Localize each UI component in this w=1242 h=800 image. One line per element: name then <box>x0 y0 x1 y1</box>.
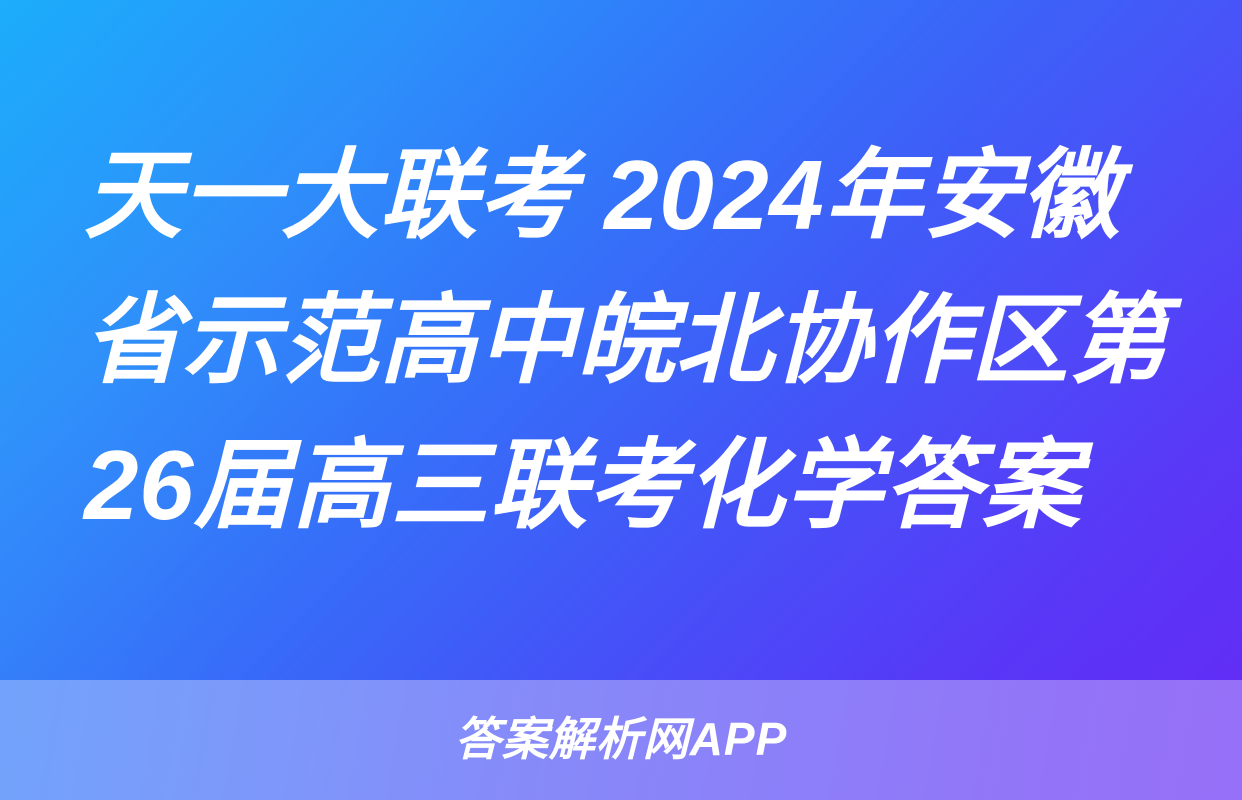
poster-title-line-1: 天一大联考 2024年安徽 <box>84 123 1172 268</box>
poster-root: 天一大联考 2024年安徽 省示范高中皖北协作区第 26届高三联考化学答案 答案… <box>0 0 1242 800</box>
hero-gradient-panel: 天一大联考 2024年安徽 省示范高中皖北协作区第 26届高三联考化学答案 <box>0 0 1242 680</box>
poster-title-line-3: 26届高三联考化学答案 <box>84 413 1172 558</box>
watermark-band: 答案解析网APP <box>0 680 1242 800</box>
app-brand-watermark: 答案解析网APP <box>455 714 788 764</box>
poster-title-line-2: 省示范高中皖北协作区第 <box>84 268 1172 413</box>
poster-title-block: 天一大联考 2024年安徽 省示范高中皖北协作区第 26届高三联考化学答案 <box>84 123 1172 558</box>
